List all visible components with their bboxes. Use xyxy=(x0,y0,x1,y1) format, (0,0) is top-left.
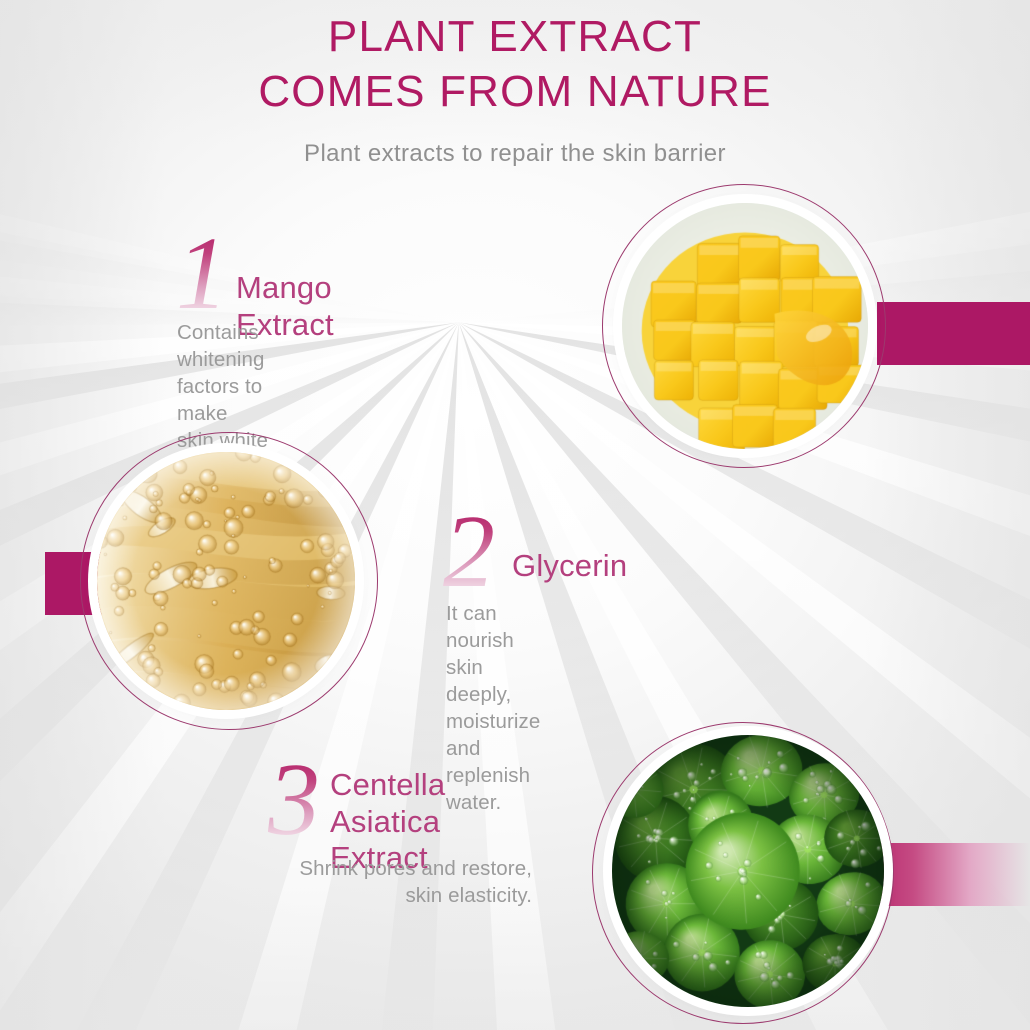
accent-bar-mango xyxy=(877,302,1030,365)
glycerin-gel-photo xyxy=(97,452,355,710)
item-number-1: 1 xyxy=(176,222,228,326)
mango-cubes-photo xyxy=(622,203,868,449)
item-description-centella: Shrink pores and restore, skin elasticit… xyxy=(260,855,532,909)
item-description-glycerin: It can nourish skin deeply, moisturize a… xyxy=(446,600,540,816)
centella-leaves-photo xyxy=(612,735,884,1007)
infographic-poster: PLANT EXTRACT COMES FROM NATURE Plant ex… xyxy=(0,0,1030,1030)
page-subtitle: Plant extracts to repair the skin barrie… xyxy=(0,140,1030,168)
accent-bar-centella xyxy=(872,843,1030,906)
item-number-2: 2 xyxy=(443,500,495,604)
page-title-line-1: PLANT EXTRACT xyxy=(0,8,1030,65)
page-title-line-2: COMES FROM NATURE xyxy=(0,63,1030,120)
item-number-3: 3 xyxy=(268,748,320,852)
item-title-glycerin: Glycerin xyxy=(512,548,627,585)
